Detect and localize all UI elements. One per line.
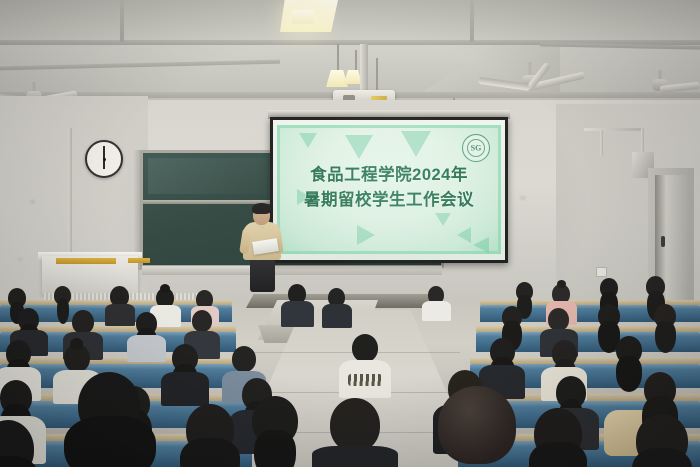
ponytail xyxy=(254,430,296,467)
wall-mark xyxy=(520,196,526,200)
slide-triangle-decor xyxy=(401,131,431,157)
ceiling-rib-left xyxy=(120,0,124,42)
torso xyxy=(422,301,451,321)
projection-screen: SG 食品工程学院2024年 暑期留校学生工作会议 xyxy=(270,117,508,263)
seal-initials: SG xyxy=(471,144,482,153)
ceiling-rib-right xyxy=(470,0,474,42)
chalk-rail xyxy=(142,266,442,275)
long-hair xyxy=(616,356,642,392)
slide-triangle-decor xyxy=(345,135,373,159)
door-handle[interactable] xyxy=(661,236,665,247)
slide-triangle-decor xyxy=(435,213,451,226)
head xyxy=(192,310,212,332)
ceiling-fan-center xyxy=(470,62,590,96)
wall-mark xyxy=(18,258,22,261)
torso xyxy=(322,304,352,328)
head xyxy=(232,346,256,372)
wall-clock xyxy=(85,140,123,178)
ceiling-skylight-small xyxy=(292,10,314,24)
slide-title-line1: 食品工程学院2024年 xyxy=(310,166,468,184)
head xyxy=(352,334,378,362)
wall-outlet xyxy=(596,267,607,277)
ceiling-slab xyxy=(0,0,700,42)
slide-title: 食品工程学院2024年 暑期留校学生工作会议 xyxy=(277,163,501,213)
torso xyxy=(105,304,135,326)
hair-bun xyxy=(557,280,566,288)
fan-rod xyxy=(529,62,532,76)
slide-title-line2: 暑期留校学生工作会议 xyxy=(277,188,501,213)
torso xyxy=(281,301,314,327)
wall-conduit-horizontal xyxy=(584,128,644,131)
presentation-slide: SG 食品工程学院2024年 暑期留校学生工作会议 xyxy=(277,125,501,254)
podium-wood-strip xyxy=(56,258,116,264)
wall-mark xyxy=(30,200,35,204)
long-hair xyxy=(180,438,240,467)
torso xyxy=(312,446,398,467)
pendant-cord xyxy=(355,50,357,72)
long-hair xyxy=(529,442,587,467)
slide-triangle-decor xyxy=(357,225,375,245)
head xyxy=(438,386,516,464)
long-hair xyxy=(64,416,156,467)
hair-bun xyxy=(70,338,83,350)
head xyxy=(72,310,94,334)
torso xyxy=(161,372,209,406)
pendant-cord xyxy=(337,44,339,72)
torso xyxy=(127,335,166,362)
slide-triangle-decor xyxy=(473,237,489,253)
speaker-legs xyxy=(250,258,275,292)
blackboard-sheen xyxy=(148,158,288,194)
wall-conduit-drop2 xyxy=(600,130,603,156)
lecture-hall-photo: SG 食品工程学院2024年 暑期留校学生工作会议 xyxy=(0,0,700,467)
slide-triangle-decor xyxy=(457,227,471,243)
head xyxy=(330,398,380,452)
projector-mount-pole xyxy=(360,44,368,92)
tshirt-graphic xyxy=(348,374,382,386)
clock-center xyxy=(103,158,106,161)
hair-bun xyxy=(160,284,170,293)
long-hair xyxy=(655,321,676,353)
speaker-glasses xyxy=(254,212,269,216)
screen-surface: SG 食品工程学院2024年 暑期留校学生工作会议 xyxy=(273,120,505,260)
ceiling-fan-right xyxy=(630,70,700,96)
head xyxy=(548,308,569,331)
podium-wood-strip-right xyxy=(128,258,150,263)
university-seal-logo: SG xyxy=(462,134,490,162)
ponytail xyxy=(57,298,69,324)
clock-hand-hour xyxy=(103,159,105,169)
slide-triangle-decor xyxy=(299,133,317,148)
wall-conduit-vertical xyxy=(68,128,72,260)
pendant-cord xyxy=(376,58,378,94)
